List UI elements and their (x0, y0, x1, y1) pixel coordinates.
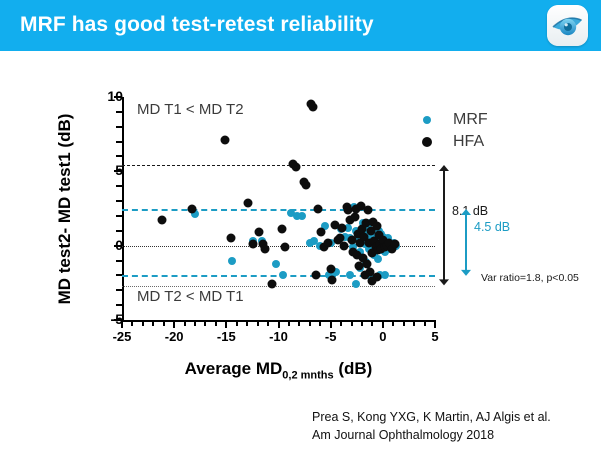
x-tick (298, 320, 300, 326)
data-point-hfa (254, 228, 263, 237)
legend-label-hfa: HFA (453, 133, 484, 151)
x-tick (309, 320, 311, 326)
x-tick (361, 320, 363, 326)
legend-marker-mrf (423, 116, 431, 124)
y-tick-label: 5 (83, 162, 123, 178)
data-point-hfa (326, 265, 335, 274)
x-tick (257, 320, 259, 326)
citation: Prea S, Kong YXG, K Martin, AJ Algis et … (312, 408, 551, 444)
x-tick-label: -15 (206, 329, 246, 344)
x-tick-label: 5 (415, 329, 455, 344)
x-tick (319, 320, 321, 326)
x-tick (278, 320, 280, 328)
data-point-mrf (279, 271, 287, 279)
data-point-mrf (272, 260, 280, 268)
x-tick (382, 320, 384, 328)
y-tick (116, 289, 122, 291)
reference-line-hfa-upper-loa (122, 165, 435, 166)
legend-item-hfa: HFA (420, 131, 488, 153)
x-tick (173, 320, 175, 328)
page-title: MRF has good test-retest reliability (20, 13, 374, 37)
x-tick (413, 320, 415, 326)
data-point-mrf (381, 271, 389, 279)
reference-line-mrf-upper-loa (122, 209, 435, 211)
citation-journal: Am Journal Ophthalmology 2018 (312, 426, 551, 444)
x-tick (215, 320, 217, 326)
data-point-hfa (338, 223, 347, 232)
data-point-mrf (298, 212, 306, 220)
x-tick (424, 320, 426, 326)
data-point-hfa (157, 216, 166, 225)
data-point-hfa (187, 204, 196, 213)
stats-annotation: Var ratio=1.8, p<0.05 (481, 272, 579, 284)
x-tick-label: -25 (102, 329, 142, 344)
data-point-hfa (221, 136, 230, 145)
data-point-hfa (350, 213, 359, 222)
y-tick (116, 215, 122, 217)
citation-authors: Prea S, Kong YXG, K Martin, AJ Algis et … (312, 408, 551, 426)
x-axis-title: Average MD0,2 mnths (dB) (122, 359, 435, 381)
eye-icon (547, 5, 588, 46)
data-point-hfa (317, 228, 326, 237)
x-tick (225, 320, 227, 328)
x-tick (163, 320, 165, 326)
y-tick (116, 260, 122, 262)
range-arrow-mrf-limits-of-agreement (459, 208, 473, 277)
upper-region-note: MD T1 < MD T2 (137, 101, 244, 118)
y-tick (116, 126, 122, 128)
reference-line-hfa-lower-loa (122, 286, 435, 287)
y-tick (116, 141, 122, 143)
legend: MRF HFA (420, 109, 488, 153)
data-point-hfa (363, 259, 372, 268)
data-point-hfa (368, 277, 377, 286)
x-tick (194, 320, 196, 326)
legend-label-mrf: MRF (453, 111, 488, 129)
x-tick (152, 320, 154, 326)
data-point-hfa (268, 280, 277, 289)
x-tick (434, 320, 436, 328)
data-point-hfa (292, 162, 301, 171)
x-tick (246, 320, 248, 326)
x-axis-title-sub: 0,2 mnths (282, 369, 333, 381)
data-point-hfa (308, 103, 317, 112)
chart-figure: -25-20-15-10-5051050-5 MD T1 < MD T2 MD … (0, 51, 601, 451)
y-tick (116, 155, 122, 157)
x-tick (236, 320, 238, 326)
data-point-hfa (323, 238, 332, 247)
data-point-hfa (312, 271, 321, 280)
x-tick (351, 320, 353, 326)
x-tick (184, 320, 186, 326)
y-tick (116, 304, 122, 306)
x-tick (267, 320, 269, 326)
lower-region-note: MD T2 < MD T1 (137, 288, 244, 305)
plot-area: -25-20-15-10-5051050-5 MD T1 < MD T2 MD … (122, 97, 435, 320)
legend-marker-hfa (422, 137, 432, 147)
x-axis-title-main: Average MD (185, 359, 283, 378)
x-tick (131, 320, 133, 326)
y-tick (116, 230, 122, 232)
data-point-hfa (280, 243, 289, 252)
data-point-hfa (372, 222, 381, 231)
data-point-hfa (249, 240, 258, 249)
data-point-hfa (260, 244, 269, 253)
x-tick-label: -10 (259, 329, 299, 344)
x-tick (371, 320, 373, 326)
slide-root: MRF has good test-retest reliability (0, 0, 601, 451)
x-tick (288, 320, 290, 326)
data-point-hfa (364, 205, 373, 214)
legend-item-mrf: MRF (420, 109, 488, 131)
x-tick (392, 320, 394, 326)
x-axis-title-unit: (dB) (334, 359, 373, 378)
data-point-mrf (228, 257, 236, 265)
data-point-hfa (277, 225, 286, 234)
data-point-hfa (301, 180, 310, 189)
data-point-hfa (244, 198, 253, 207)
data-point-hfa (226, 234, 235, 243)
data-point-hfa (314, 204, 323, 213)
x-tick-label: -20 (154, 329, 194, 344)
data-point-hfa (391, 240, 400, 249)
x-tick-label: -5 (311, 329, 351, 344)
x-tick-label: 0 (363, 329, 403, 344)
data-point-hfa (327, 275, 336, 284)
y-tick-label: 10 (83, 88, 123, 104)
x-tick (340, 320, 342, 326)
y-tick (116, 111, 122, 113)
y-tick (116, 185, 122, 187)
x-tick (403, 320, 405, 326)
y-tick (116, 200, 122, 202)
data-point-mrf (346, 271, 354, 279)
x-tick (330, 320, 332, 328)
y-axis-title: MD test2- MD test1 (dB) (55, 114, 75, 305)
data-point-mrf (352, 280, 360, 288)
y-tick-label: 0 (83, 237, 123, 253)
range-arrow-hfa-limits-of-agreement (437, 164, 451, 286)
x-tick (204, 320, 206, 326)
y-tick-label: -5 (83, 311, 123, 327)
x-tick (142, 320, 144, 326)
range-label-mrf-limits-of-agreement: 4.5 dB (474, 220, 510, 234)
